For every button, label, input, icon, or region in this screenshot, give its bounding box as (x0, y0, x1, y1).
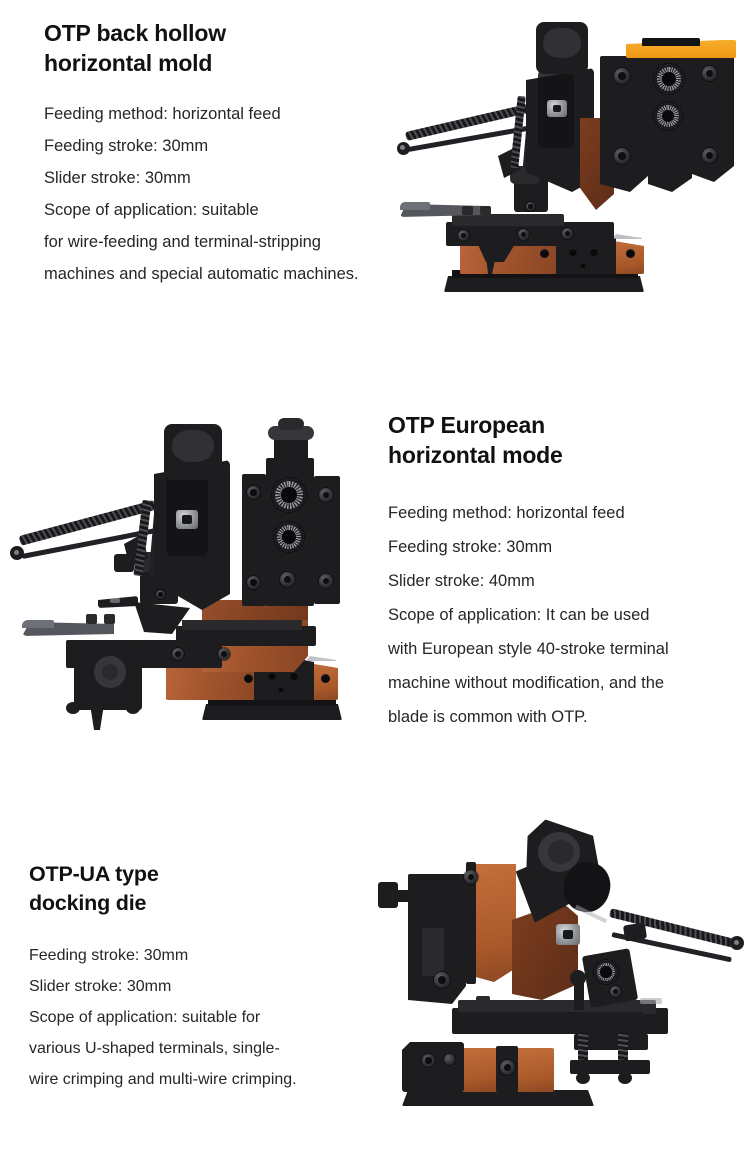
spec-line: machines and special automatic machines. (44, 258, 374, 290)
section-3-title-line-1: OTP-UA type (29, 860, 359, 889)
otp-back-hollow-horizontal-mold-photo (386, 8, 750, 308)
spec-line: with European style 40-stroke terminal (388, 632, 733, 666)
spec-line: Slider stroke: 30mm (44, 162, 374, 194)
section-2-title-line-2: horizontal mode (388, 440, 733, 470)
section-3-text-column: OTP-UA type docking die Feeding stroke: … (29, 860, 359, 1095)
section-3-title-line-2: docking die (29, 889, 359, 918)
spec-line: Feeding method: horizontal feed (388, 496, 733, 530)
spec-line: Feeding stroke: 30mm (29, 940, 359, 971)
section-2-text-column: OTP European horizontal mode Feeding met… (388, 410, 733, 734)
spec-line: Slider stroke: 40mm (388, 564, 733, 598)
section-3-spec-list: Feeding stroke: 30mm Slider stroke: 30mm… (29, 940, 359, 1095)
spec-line: various U-shaped terminals, single- (29, 1033, 359, 1064)
spec-line: Feeding stroke: 30mm (44, 130, 374, 162)
spec-line: Scope of application: suitable (44, 194, 374, 226)
product-section-otp-back-hollow-horizontal-mold: OTP back hollow horizontal mold Feeding … (0, 0, 750, 390)
spec-line: wire crimping and multi-wire crimping. (29, 1064, 359, 1095)
section-2-spec-list: Feeding method: horizontal feed Feeding … (388, 496, 733, 734)
section-1-title-line-1: OTP back hollow (44, 18, 374, 48)
otp-ua-type-docking-die-photo (378, 820, 750, 1150)
section-1-spec-list: Feeding method: horizontal feed Feeding … (44, 98, 374, 290)
section-1-title-line-2: horizontal mold (44, 48, 374, 78)
spec-line: Feeding method: horizontal feed (44, 98, 374, 130)
spec-line: Feeding stroke: 30mm (388, 530, 733, 564)
spec-line: for wire-feeding and terminal-stripping (44, 226, 374, 258)
product-section-otp-european-horizontal-mode: OTP European horizontal mode Feeding met… (0, 390, 750, 790)
product-section-otp-ua-type-docking-die: OTP-UA type docking die Feeding stroke: … (0, 790, 750, 1160)
spec-line: machine without modification, and the (388, 666, 733, 700)
spec-line: Scope of application: suitable for (29, 1002, 359, 1033)
section-2-title-line-1: OTP European (388, 410, 733, 440)
section-1-title: OTP back hollow horizontal mold (44, 18, 374, 78)
otp-european-horizontal-mode-photo (6, 404, 362, 744)
spec-line: Slider stroke: 30mm (29, 971, 359, 1002)
section-1-text-column: OTP back hollow horizontal mold Feeding … (44, 18, 374, 290)
spec-line: blade is common with OTP. (388, 700, 733, 734)
spec-line: Scope of application: It can be used (388, 598, 733, 632)
section-3-title: OTP-UA type docking die (29, 860, 359, 918)
section-2-title: OTP European horizontal mode (388, 410, 733, 470)
